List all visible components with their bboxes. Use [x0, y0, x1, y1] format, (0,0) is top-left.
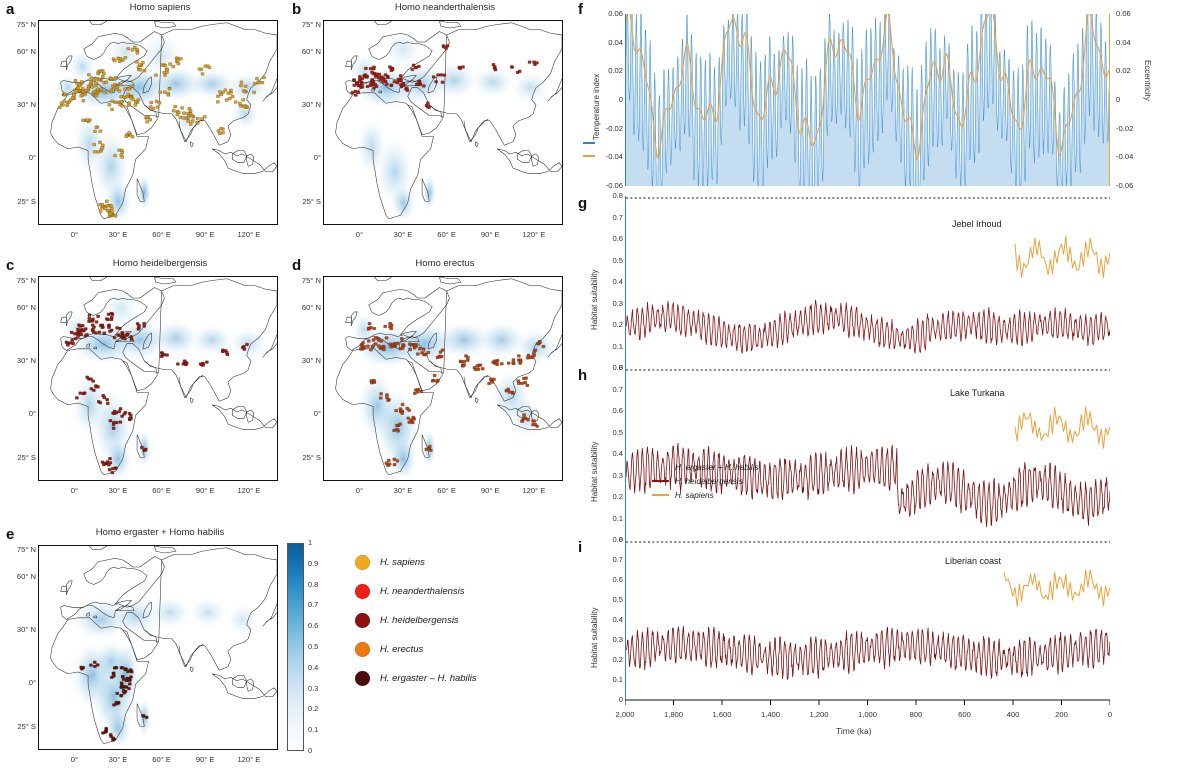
map-title-a: Homo sapiens — [40, 2, 280, 13]
map-b-lon-tick: 30° E — [385, 230, 421, 239]
species-legend-item: H. ergaster – H. habilis — [355, 664, 477, 693]
map-title-c: Homo heidelbergensis — [40, 258, 280, 269]
time-axis-tick: 2,000 — [605, 710, 645, 719]
time-axis-tick: 200 — [1042, 710, 1082, 719]
panel-h-legend-item: H. heidelbergensis — [652, 474, 759, 488]
panel-h-legend-item: H. sapiens — [652, 488, 759, 502]
colorbar-tick: 0 — [308, 746, 312, 755]
panel-h-legend-label: H. heidelbergensis — [675, 477, 743, 486]
map-b[interactable] — [323, 20, 563, 225]
panel-f-legend-item — [583, 149, 600, 162]
map-a-lon-tick: 90° E — [187, 230, 223, 239]
panel-letter-e: e — [6, 527, 14, 542]
map-d-lon-tick: 30° E — [385, 486, 421, 495]
panel-f-right-tick: 0.02 — [1116, 66, 1131, 75]
timeseries-panel-g[interactable] — [625, 196, 1110, 368]
map-c-lat-tick: 30° N — [4, 356, 36, 365]
species-legend-label: H. neanderthalensis — [380, 586, 465, 597]
map-e-lon-tick: 120° E — [231, 755, 267, 764]
map-d-lat-tick: 0° — [289, 409, 321, 418]
panel-h-axis-label: Habitat suitability — [590, 442, 599, 502]
suitability-field — [351, 27, 550, 223]
habitat-axis-tick: 0.5 — [599, 428, 623, 437]
map-c-lon-tick: 0° — [56, 486, 92, 495]
species-legend: H. sapiensH. neanderthalensisH. heidelbe… — [355, 548, 477, 693]
map-d-lat-tick: 30° N — [289, 356, 321, 365]
map-a-lat-tick: 30° N — [4, 100, 36, 109]
map-c-lon-tick: 120° E — [231, 486, 267, 495]
habitat-axis-tick: 0.7 — [599, 385, 623, 394]
species-legend-item: H. sapiens — [355, 548, 477, 577]
panel-f-left-tick: 0.04 — [593, 38, 623, 47]
panel-f-right-tick: -0.06 — [1116, 181, 1133, 190]
panel-h-legend: H. ergaster + H. habilisH. heidelbergens… — [652, 460, 759, 502]
panel-letter-i: i — [578, 540, 582, 555]
panel-letter-b: b — [292, 2, 301, 17]
map-title-b: Homo neanderthalensis — [325, 2, 565, 13]
habitat-axis-tick: 0.5 — [599, 256, 623, 265]
map-d-lat-tick: 25° S — [289, 453, 321, 462]
map-a-lon-tick: 120° E — [231, 230, 267, 239]
habitat-axis-tick: 0.8 — [599, 191, 623, 200]
map-b-lat-tick: 25° S — [289, 197, 321, 206]
species-color-dot — [355, 555, 370, 570]
legend-swatch — [583, 155, 595, 157]
timeseries-x-axis-line — [625, 699, 1110, 707]
map-b-lon-tick: 120° E — [516, 230, 552, 239]
panel-h-legend-item: H. ergaster + H. habilis — [652, 460, 759, 474]
map-d-lon-tick: 120° E — [516, 486, 552, 495]
colorbar-tick: 0.8 — [308, 580, 318, 589]
colorbar-tick: 0.4 — [308, 663, 318, 672]
habitat-axis-tick: 0.2 — [599, 492, 623, 501]
map-b-lat-tick: 60° N — [289, 47, 321, 56]
species-legend-label: H. ergaster – H. habilis — [380, 673, 477, 684]
panel-letter-c: c — [6, 258, 14, 273]
habitat-axis-tick: 0.7 — [599, 555, 623, 564]
panel-i-site-label: Liberian coast — [945, 556, 1001, 566]
map-d-lat-tick: 75° N — [289, 276, 321, 285]
map-a-lon-tick: 0° — [56, 230, 92, 239]
habitat-axis-tick: 0.8 — [599, 535, 623, 544]
map-title-e: Homo ergaster + Homo habilis — [40, 527, 280, 538]
timeseries-panel-f[interactable] — [625, 14, 1110, 186]
time-axis-tick: 0 — [1090, 710, 1130, 719]
panel-letter-h: h — [578, 368, 587, 383]
colorbar-tick: 0.3 — [308, 684, 318, 693]
time-axis-tick: 600 — [945, 710, 985, 719]
habitat-axis-tick: 0.3 — [599, 299, 623, 308]
habitat-axis-tick: 0.6 — [599, 406, 623, 415]
panel-f-legend-item — [583, 136, 600, 149]
habitat-axis-tick: 0.8 — [599, 363, 623, 372]
species-color-dot — [355, 671, 370, 686]
panel-letter-a: a — [6, 2, 14, 17]
map-a[interactable] — [38, 20, 278, 225]
panel-f-right-tick: -0.02 — [1116, 124, 1133, 133]
legend-swatch — [583, 142, 595, 144]
map-b-lon-tick: 60° E — [429, 230, 465, 239]
habitat-axis-tick: 0 — [599, 695, 623, 704]
map-b-lat-tick: 30° N — [289, 100, 321, 109]
panel-f-right-tick: 0.04 — [1116, 38, 1131, 47]
suitability-field — [65, 286, 268, 480]
habitat-axis-tick: 0.5 — [599, 595, 623, 604]
habitat-axis-tick: 0.4 — [599, 615, 623, 624]
panel-g-site-label: Jebel Irhoud — [952, 219, 1002, 229]
panel-i-axis-label: Habitat suitability — [590, 608, 599, 668]
species-color-dot — [355, 642, 370, 657]
habitat-axis-tick: 0.6 — [599, 234, 623, 243]
species-legend-label: H. erectus — [380, 644, 423, 655]
colorbar-tick: 1 — [308, 538, 312, 547]
map-b-lon-tick: 90° E — [472, 230, 508, 239]
time-axis-tick: 1,400 — [751, 710, 791, 719]
panel-letter-f: f — [578, 2, 583, 17]
map-e-lat-tick: 0° — [4, 678, 36, 687]
suitability-field — [56, 30, 271, 223]
map-d-lon-tick: 0° — [341, 486, 377, 495]
panel-f-left-tick: -0.06 — [593, 181, 623, 190]
panel-f-left-tick: 0.06 — [593, 9, 623, 18]
habitat-axis-tick: 0.6 — [599, 575, 623, 584]
species-legend-item: H. erectus — [355, 635, 477, 664]
map-a-lon-tick: 60° E — [144, 230, 180, 239]
panel-letter-g: g — [578, 196, 587, 211]
map-a-lat-tick: 75° N — [4, 20, 36, 29]
habitat-axis-tick: 0.3 — [599, 471, 623, 480]
habitat-axis-tick: 0.2 — [599, 655, 623, 664]
map-d-lat-tick: 60° N — [289, 303, 321, 312]
time-axis-tick: 1,600 — [702, 710, 742, 719]
habitat-axis-tick: 0.1 — [599, 342, 623, 351]
habitat-axis-tick: 0.7 — [599, 213, 623, 222]
colorbar-tick: 0.7 — [308, 600, 318, 609]
map-c-lon-tick: 60° E — [144, 486, 180, 495]
map-e-lat-tick: 60° N — [4, 572, 36, 581]
colorbar-tick: 0.5 — [308, 642, 318, 651]
map-b-lat-tick: 75° N — [289, 20, 321, 29]
colorbar-tick: 0.9 — [308, 559, 318, 568]
map-e[interactable] — [38, 545, 278, 750]
time-axis-tick: 1,200 — [799, 710, 839, 719]
panel-g-axis-label: Habitat suitability — [590, 270, 599, 330]
habitat-axis-tick: 0.1 — [599, 675, 623, 684]
map-e-lat-tick: 25° S — [4, 722, 36, 731]
species-legend-label: H. sapiens — [380, 557, 425, 568]
species-legend-item: H. neanderthalensis — [355, 577, 477, 606]
figure-root: a Homo sapiens b Homo neanderthalensis c… — [0, 0, 1180, 770]
panel-h-legend-label: H. ergaster + H. habilis — [675, 463, 759, 472]
habitat-axis-tick: 0.3 — [599, 635, 623, 644]
colorbar-tick: 0.6 — [308, 621, 318, 630]
timeseries-panel-h[interactable] — [625, 368, 1110, 540]
map-c-lat-tick: 25° S — [4, 453, 36, 462]
species-color-dot — [355, 613, 370, 628]
map-c-lon-tick: 90° E — [187, 486, 223, 495]
map-c-lat-tick: 60° N — [4, 303, 36, 312]
panel-f-legend — [583, 136, 600, 162]
map-c-lat-tick: 0° — [4, 409, 36, 418]
map-c[interactable] — [38, 276, 278, 481]
legend-swatch — [652, 494, 669, 496]
map-e-lon-tick: 90° E — [187, 755, 223, 764]
panel-h-legend-label: H. sapiens — [675, 491, 714, 500]
map-e-lon-tick: 60° E — [144, 755, 180, 764]
map-e-lon-tick: 30° E — [100, 755, 136, 764]
habitat-axis-tick: 0.2 — [599, 320, 623, 329]
timeseries-x-axis-label: Time (ka) — [836, 726, 872, 736]
panel-f-right-tick: -0.04 — [1116, 152, 1133, 161]
map-d-lon-tick: 90° E — [472, 486, 508, 495]
map-c-lon-tick: 30° E — [100, 486, 136, 495]
panel-letter-d: d — [292, 258, 301, 273]
species-color-dot — [355, 584, 370, 599]
map-b-lon-tick: 0° — [341, 230, 377, 239]
timeseries-panel-i[interactable] — [625, 540, 1110, 700]
species-legend-item: H. heidelbergensis — [355, 606, 477, 635]
time-axis-tick: 1,800 — [654, 710, 694, 719]
panel-f-left-axis-label: Temperature index — [592, 74, 601, 140]
habitat-axis-tick: 0.4 — [599, 277, 623, 286]
panel-f-right-tick: 0 — [1116, 95, 1120, 104]
map-e-lat-tick: 30° N — [4, 625, 36, 634]
panel-f-right-axis-label: Eccentricity — [1143, 60, 1152, 101]
map-title-d: Homo erectus — [325, 258, 565, 269]
time-axis-tick: 1,000 — [848, 710, 888, 719]
colorbar-tick: 0.2 — [308, 704, 318, 713]
map-a-lon-tick: 30° E — [100, 230, 136, 239]
map-a-lat-tick: 0° — [4, 153, 36, 162]
habitat-axis-tick: 0.4 — [599, 449, 623, 458]
suitability-field — [351, 313, 559, 480]
map-b-lat-tick: 0° — [289, 153, 321, 162]
habitat-axis-tick: 0.1 — [599, 514, 623, 523]
time-axis-tick: 400 — [993, 710, 1033, 719]
map-c-lat-tick: 75° N — [4, 276, 36, 285]
species-legend-label: H. heidelbergensis — [380, 615, 459, 626]
time-axis-tick: 800 — [896, 710, 936, 719]
panel-f-right-tick: 0.06 — [1116, 9, 1131, 18]
map-d-lon-tick: 60° E — [429, 486, 465, 495]
legend-swatch — [652, 480, 669, 482]
colorbar-tick: 0.1 — [308, 725, 318, 734]
map-a-lat-tick: 25° S — [4, 197, 36, 206]
suitability-field — [69, 596, 259, 749]
map-a-lat-tick: 60° N — [4, 47, 36, 56]
map-e-lat-tick: 75° N — [4, 545, 36, 554]
map-d[interactable] — [323, 276, 563, 481]
colorbar — [287, 543, 304, 751]
panel-h-site-label: Lake Turkana — [950, 388, 1005, 398]
map-e-lon-tick: 0° — [56, 755, 92, 764]
